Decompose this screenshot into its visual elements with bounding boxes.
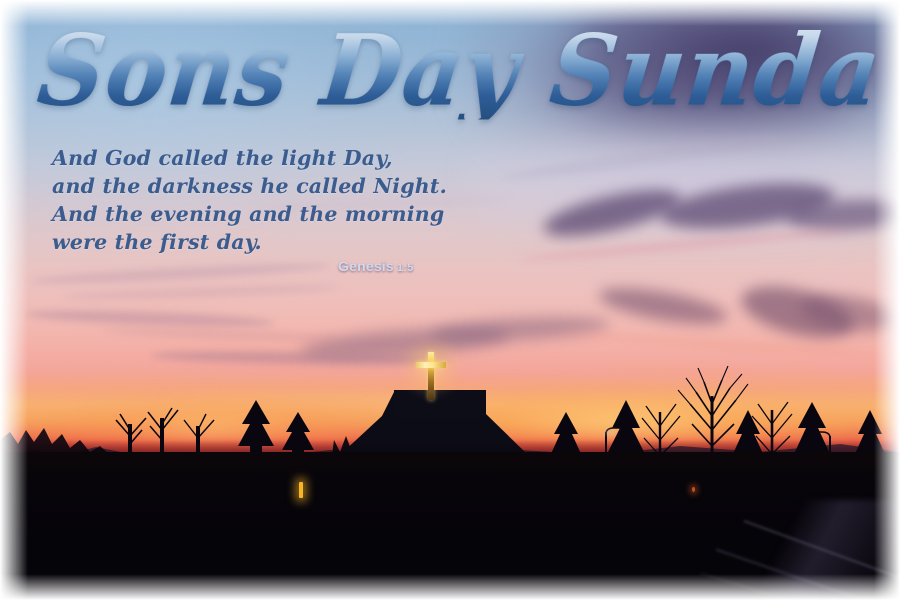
cross-horizontal-beam bbox=[416, 362, 446, 368]
citation-book: Genesis bbox=[338, 258, 394, 274]
cross-vertical-beam bbox=[428, 352, 434, 400]
distant-light bbox=[692, 487, 695, 492]
poster-frame: Sons Day Sunday And God called the light… bbox=[0, 0, 900, 600]
scripture-line-2: and the darkness he called Night. bbox=[52, 172, 522, 200]
scripture-text: And God called the light Day, and the da… bbox=[52, 144, 522, 256]
scripture-line-3: And the evening and the morning bbox=[52, 200, 522, 228]
citation-reference: 1:5 bbox=[397, 262, 414, 274]
scripture-line-1: And God called the light Day, bbox=[52, 144, 522, 172]
scripture-line-4: were the first day. bbox=[52, 228, 522, 256]
porch-light bbox=[299, 482, 303, 498]
scripture-citation: Genesis1:5 bbox=[338, 258, 414, 274]
glowing-cross-icon bbox=[414, 352, 448, 400]
page-title: Sons Day Sunday bbox=[34, 22, 884, 120]
sunset-photo-scene: Sons Day Sunday And God called the light… bbox=[0, 0, 900, 600]
street-lamp-glow bbox=[604, 430, 616, 435]
